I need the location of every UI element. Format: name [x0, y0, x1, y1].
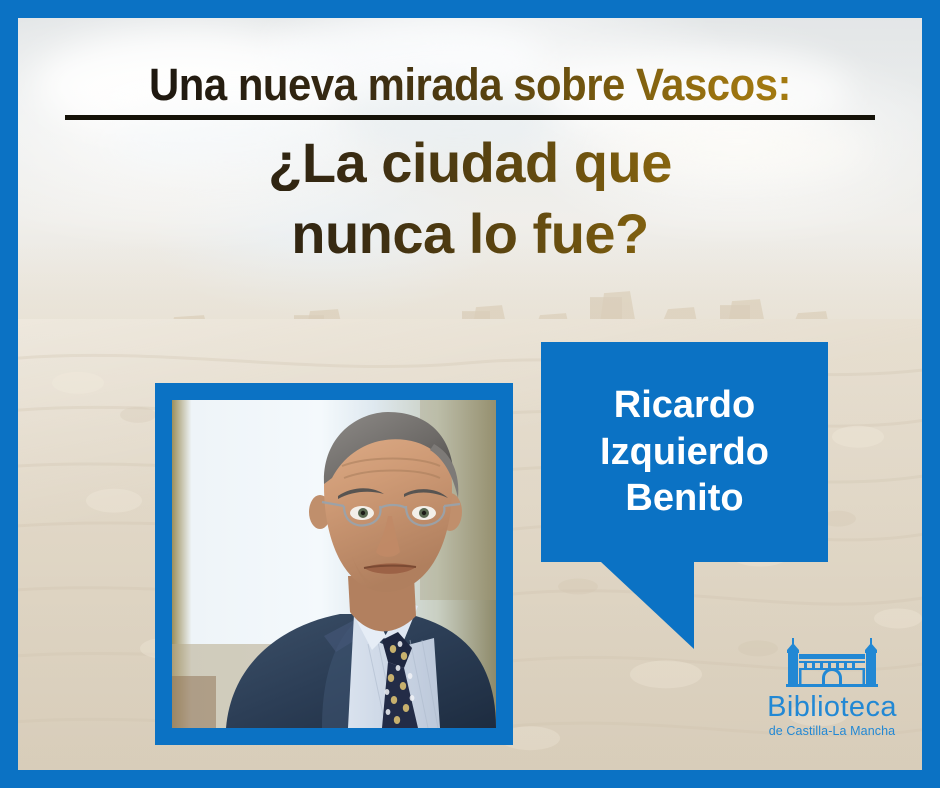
poster-title: Una nueva mirada sobre Vascos: ¿La ciuda… [18, 62, 922, 262]
speaker-name-bubble: Ricardo Izquierdo Benito [541, 342, 828, 562]
speaker-portrait-card [155, 383, 513, 745]
speaker-name-line-3: Benito [625, 475, 743, 521]
logo-subtitle: de Castilla-La Mancha [769, 725, 895, 738]
poster: Una nueva mirada sobre Vascos: ¿La ciuda… [0, 0, 940, 788]
title-line-2: ¿La ciudad que [18, 134, 922, 191]
title-line-1: Una nueva mirada sobre Vascos: [50, 62, 891, 111]
title-line-3: nunca lo fue? [18, 205, 922, 262]
speaker-name-line-1: Ricardo [614, 382, 755, 428]
speaker-name-line-2: Izquierdo [600, 429, 769, 475]
speaker-portrait-photo [172, 400, 496, 728]
title-underline [65, 115, 875, 120]
biblioteca-logo: Biblioteca de Castilla-La Mancha [757, 634, 907, 744]
logo-wordmark: Biblioteca [767, 693, 897, 722]
castle-gate-icon [778, 634, 886, 690]
